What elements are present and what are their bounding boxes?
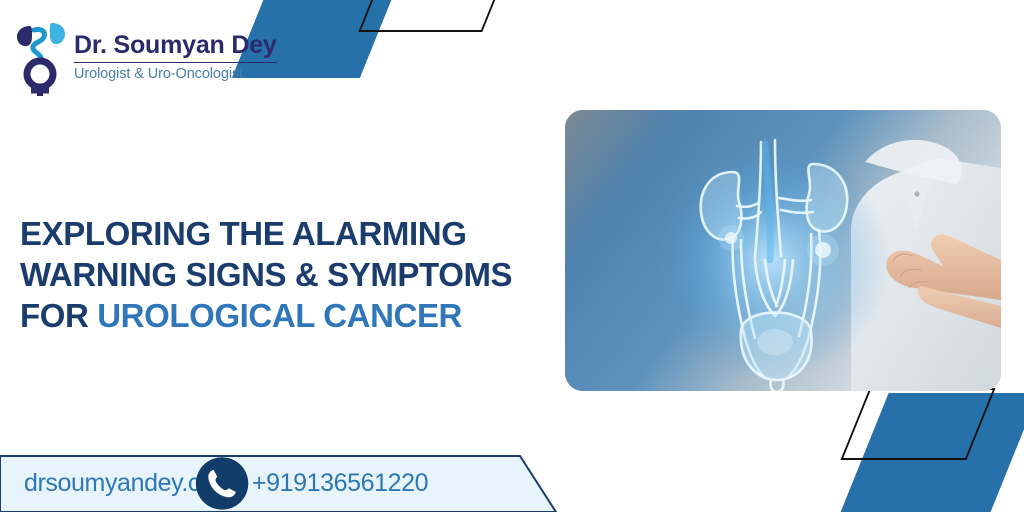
kidney-urology-symbol-icon <box>14 18 66 96</box>
banner-canvas: Dr. Soumyan Dey Urologist & Uro-Oncologi… <box>0 0 1024 512</box>
headline-line-3: FOR UROLOGICAL CANCER <box>20 295 540 336</box>
headline-line-2: WARNING SIGNS & SYMPTOMS <box>20 254 540 295</box>
contact-phone[interactable]: +919136561220 <box>244 469 428 498</box>
brand-name: Dr. Soumyan Dey <box>74 32 277 58</box>
hero-image <box>565 110 1001 391</box>
headline-line-3-prefix: FOR <box>20 297 97 334</box>
decor-parallelogram-top-outline <box>358 0 509 32</box>
brand-logo[interactable]: Dr. Soumyan Dey Urologist & Uro-Oncologi… <box>14 18 277 96</box>
brand-divider <box>74 62 277 63</box>
headline-line-1: EXPLORING THE ALARMING <box>20 213 540 254</box>
contact-bar: drsoumyandey.com +919136561220 <box>0 455 560 512</box>
headline-block: EXPLORING THE ALARMING WARNING SIGNS & S… <box>20 213 540 336</box>
headline-line-3-accent: UROLOGICAL CANCER <box>97 297 462 334</box>
brand-tagline: Urologist & Uro-Oncologist <box>74 66 277 82</box>
